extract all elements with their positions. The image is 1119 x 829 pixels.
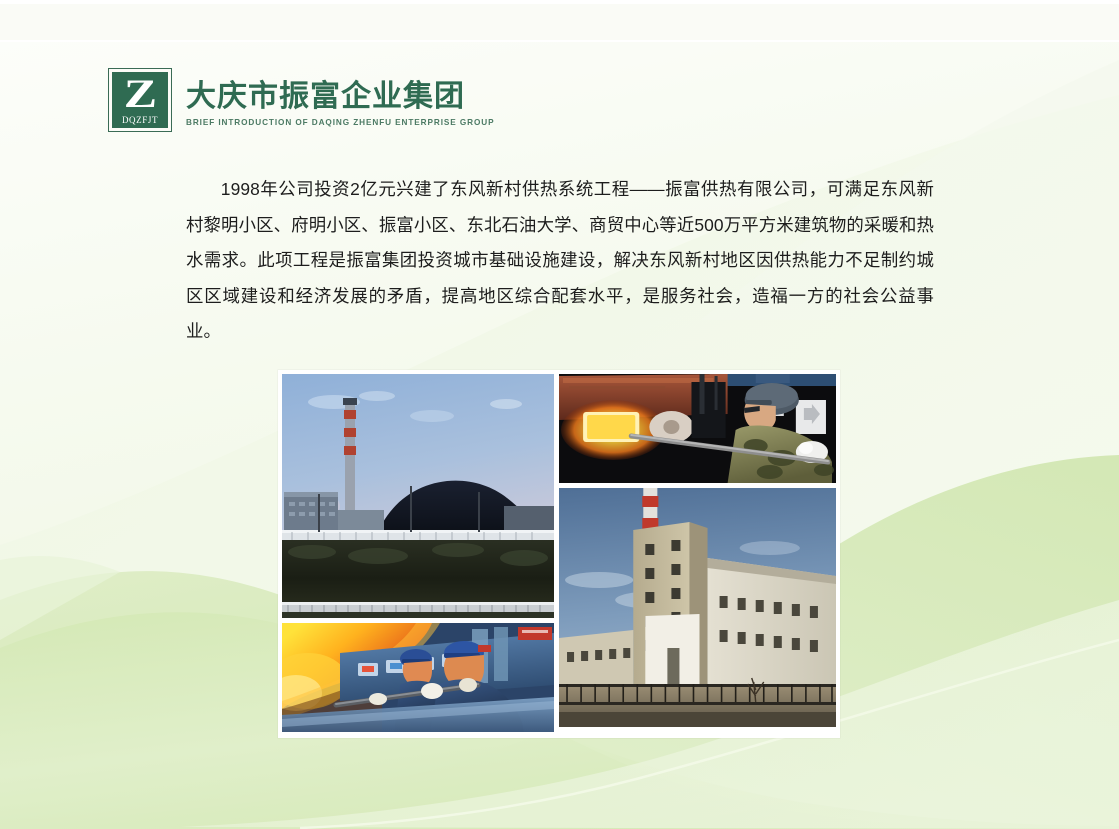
logo-z-letter: Z <box>124 74 156 114</box>
body-paragraph: 1998年公司投资2亿元兴建了东风新村供热系统工程——振富供热有限公司，可满足东… <box>186 172 934 350</box>
logo-mark-inner: Z DQZFJT <box>112 72 168 128</box>
logo-text-block: 大庆市振富企业集团 BRIEF INTRODUCTION OF DAQING Z… <box>186 68 494 129</box>
photo-collage <box>278 370 840 738</box>
company-tagline: BRIEF INTRODUCTION OF DAQING ZHENFU ENTE… <box>186 117 494 129</box>
company-logo-mark: Z DQZFJT <box>108 68 172 132</box>
company-name: 大庆市振富企业集团 <box>186 80 494 114</box>
slide-page: Z DQZFJT 大庆市振富企业集团 BRIEF INTRODUCTION OF… <box>0 0 1119 829</box>
photo-furnace-operator <box>559 374 836 483</box>
page-header: Z DQZFJT 大庆市振富企业集团 BRIEF INTRODUCTION OF… <box>108 68 494 132</box>
photo-heating-plant-exterior <box>282 374 554 618</box>
logo-abbreviation: DQZFJT <box>122 115 158 125</box>
photo-boiler-house-building <box>559 488 836 727</box>
photo-control-room-workers <box>282 623 554 732</box>
